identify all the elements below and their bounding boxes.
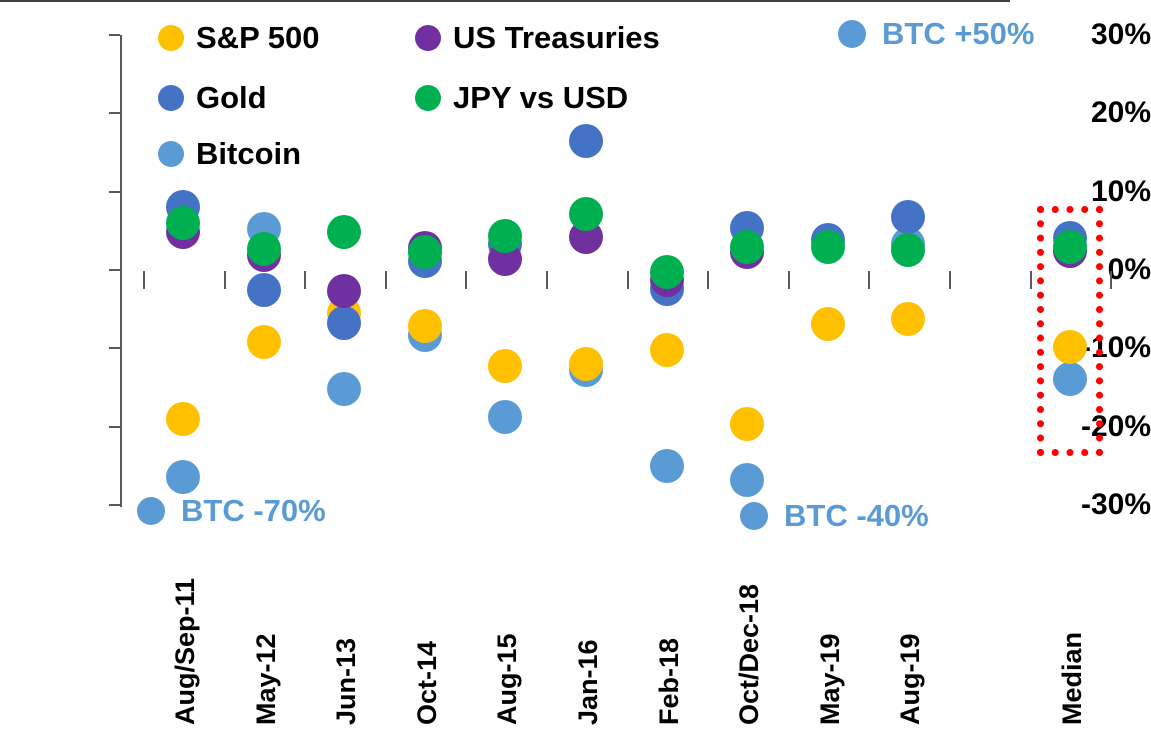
y-axis-tick-label: 10% xyxy=(1047,177,1151,207)
median-highlight-box xyxy=(1037,206,1103,456)
y-axis-tick-label: 20% xyxy=(1047,98,1151,128)
data-point xyxy=(650,333,684,367)
legend-swatch-icon xyxy=(415,25,441,51)
legend-label: US Treasuries xyxy=(453,22,660,53)
annotation-label: BTC +50% xyxy=(882,18,1034,49)
legend-item[interactable]: US Treasuries xyxy=(415,22,660,53)
annotation-label: BTC -70% xyxy=(181,495,326,526)
x-axis-tick xyxy=(1110,271,1112,289)
annotation-bottom-center: BTC -40% xyxy=(740,500,929,531)
data-point xyxy=(569,124,603,158)
data-point xyxy=(488,219,522,253)
data-point xyxy=(811,307,845,341)
legend-label: Gold xyxy=(196,82,267,113)
data-point xyxy=(730,407,764,441)
data-point xyxy=(891,302,925,336)
data-point xyxy=(166,460,200,494)
legend-item[interactable]: Bitcoin xyxy=(158,138,301,169)
annotation-marker-icon xyxy=(740,502,768,530)
annotation-marker-icon xyxy=(838,20,866,48)
x-axis-tick-label: May-12 xyxy=(251,633,282,725)
data-point xyxy=(327,215,361,249)
data-point xyxy=(488,400,522,434)
x-axis-tick xyxy=(949,271,951,289)
data-point xyxy=(650,449,684,483)
x-axis-tick xyxy=(788,271,790,289)
data-point xyxy=(730,230,764,264)
legend-item[interactable]: S&P 500 xyxy=(158,22,320,53)
y-axis-tick xyxy=(109,504,120,506)
y-axis-tick xyxy=(109,426,120,428)
data-point xyxy=(247,273,281,307)
annotation-top-right: BTC +50% xyxy=(838,18,1034,49)
data-point xyxy=(891,233,925,267)
data-point xyxy=(247,325,281,359)
x-axis-tick xyxy=(868,271,870,289)
x-axis-tick xyxy=(707,271,709,289)
data-point xyxy=(247,232,281,266)
data-point xyxy=(811,230,845,264)
data-point xyxy=(569,347,603,381)
data-point xyxy=(891,200,925,234)
legend-item[interactable]: Gold xyxy=(158,82,267,113)
x-axis-tick xyxy=(143,271,145,289)
data-point xyxy=(730,463,764,497)
y-axis-tick xyxy=(109,269,120,271)
annotation-marker-icon xyxy=(137,497,165,525)
x-axis-tick-label: Median xyxy=(1057,632,1088,725)
x-axis-tick xyxy=(224,271,226,289)
annotation-bottom-left: BTC -70% xyxy=(137,495,326,526)
data-point xyxy=(488,349,522,383)
legend-swatch-icon xyxy=(158,25,184,51)
data-point xyxy=(650,255,684,289)
y-axis-tick-label: -30% xyxy=(1047,490,1151,520)
x-axis-tick-label: Aug-19 xyxy=(895,633,926,725)
x-axis-tick xyxy=(1030,271,1032,289)
y-axis-tick xyxy=(109,34,120,36)
chart-canvas: 30%20%10%0%-10%-20%-30% Aug/Sep-11May-12… xyxy=(0,0,1151,739)
legend-label: S&P 500 xyxy=(196,22,320,53)
x-axis-tick-label: Aug/Sep-11 xyxy=(170,578,201,725)
data-point xyxy=(166,402,200,436)
data-point xyxy=(166,206,200,240)
x-axis-tick xyxy=(465,271,467,289)
x-axis-tick-label: Jan-16 xyxy=(573,639,604,725)
legend-item[interactable]: JPY vs USD xyxy=(415,82,628,113)
data-point xyxy=(408,235,442,269)
zero-baseline xyxy=(0,0,1010,2)
annotation-label: BTC -40% xyxy=(784,500,929,531)
x-axis-tick xyxy=(627,271,629,289)
x-axis-tick-label: May-19 xyxy=(815,633,846,725)
x-axis-tick-label: Feb-18 xyxy=(654,638,685,725)
x-axis-tick-label: Aug-15 xyxy=(492,633,523,725)
x-axis-tick-label: Oct-14 xyxy=(412,641,443,725)
legend-swatch-icon xyxy=(415,85,441,111)
x-axis-tick-label: Jun-13 xyxy=(331,638,362,725)
y-axis-tick xyxy=(109,347,120,349)
legend-label: JPY vs USD xyxy=(453,82,628,113)
y-axis-tick xyxy=(109,191,120,193)
x-axis-tick xyxy=(304,271,306,289)
legend-label: Bitcoin xyxy=(196,138,301,169)
legend-swatch-icon xyxy=(158,85,184,111)
x-axis-tick-label: Oct/Dec-18 xyxy=(734,584,765,725)
y-axis-line xyxy=(120,35,122,507)
y-axis-tick xyxy=(109,112,120,114)
data-point xyxy=(408,309,442,343)
x-axis-tick xyxy=(385,271,387,289)
y-axis-tick-label: 30% xyxy=(1047,20,1151,50)
data-point xyxy=(327,306,361,340)
legend-swatch-icon xyxy=(158,141,184,167)
data-point xyxy=(327,372,361,406)
x-axis-tick xyxy=(546,271,548,289)
